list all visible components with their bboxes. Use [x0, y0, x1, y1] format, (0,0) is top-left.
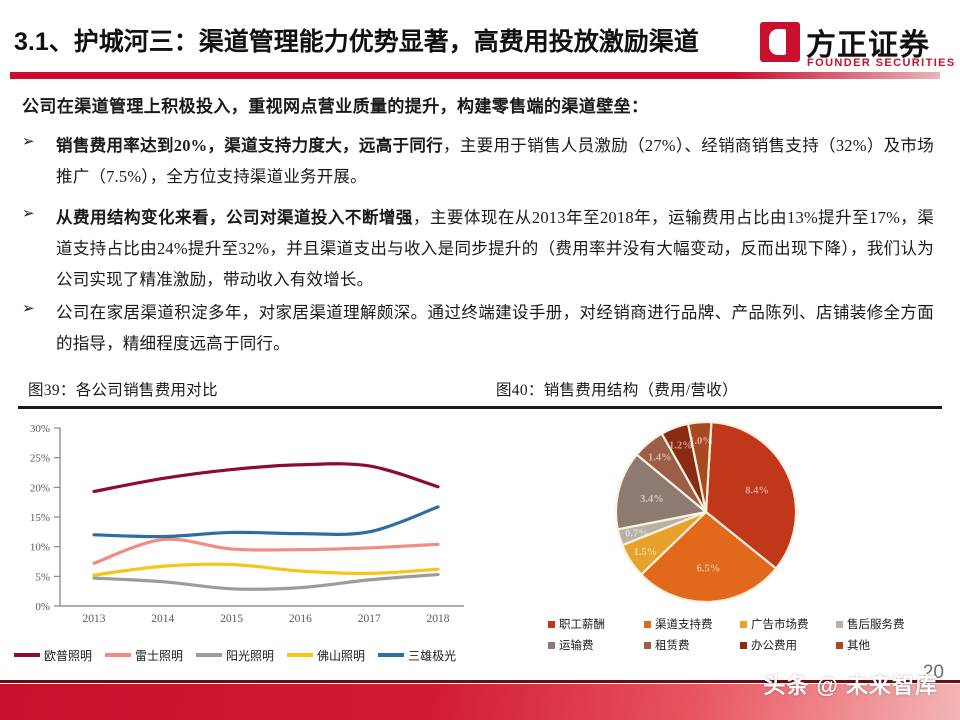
x-axis-ticks: 201320142015201620172018	[83, 613, 450, 625]
line-series	[94, 564, 438, 575]
bullet-bold-text: 从费用结构变化来看，公司对渠道投入不断增强	[56, 208, 413, 227]
bullet-text: 从费用结构变化来看，公司对渠道投入不断增强，主要体现在从2013年至2018年，…	[56, 202, 934, 295]
legend-item[interactable]: 职工薪酬	[548, 616, 644, 632]
y-tick-label: 15%	[30, 512, 50, 524]
legend-item[interactable]: 阳光照明	[196, 647, 274, 664]
line-series	[94, 575, 438, 590]
charts-area: 0%5%10%15%20%25%30% 20132014201520162017…	[0, 414, 960, 674]
bullet-rest-text: 公司在家居渠道积淀多年，对家居渠道理解颇深。通过终端建设手册，对经销商进行品牌、…	[56, 303, 934, 353]
pie-slices-group	[616, 422, 796, 602]
caption-divider	[18, 406, 942, 409]
legend-label: 雷士照明	[135, 647, 183, 664]
legend-label: 阳光照明	[226, 647, 274, 664]
brand-logo: 方正证券 FOUNDER SECURITIES	[760, 20, 950, 76]
bullet-item: ➢ 从费用结构变化来看，公司对渠道投入不断增强，主要体现在从2013年至2018…	[22, 202, 934, 295]
bullet-bold-text: 销售费用率达到20%，渠道支持力度大，远高于同行	[56, 136, 443, 155]
legend-swatch-icon	[378, 653, 404, 657]
legend-item[interactable]: 欧普照明	[14, 647, 92, 664]
bullet-text: 公司在家居渠道积淀多年，对家居渠道理解颇深。通过终端建设手册，对经销商进行品牌、…	[56, 297, 934, 359]
legend-swatch-icon	[740, 621, 747, 628]
x-tick-label: 2018	[427, 613, 450, 625]
legend-item[interactable]: 办公费用	[740, 637, 836, 653]
legend-label: 佛山照明	[317, 647, 365, 664]
legend-label: 售后服务费	[847, 616, 905, 632]
line-series	[94, 464, 438, 492]
footer-bar: 资料来源：Wind，方正证券研究所	[0, 684, 960, 720]
y-tick-label: 0%	[35, 601, 50, 613]
legend-label: 租赁费	[655, 637, 690, 653]
legend-item[interactable]: 其他	[836, 637, 932, 653]
legend-label: 三雄极光	[408, 647, 456, 664]
bullet-marker-icon: ➢	[22, 204, 35, 223]
y-tick-label: 5%	[35, 571, 50, 583]
legend-swatch-icon	[548, 621, 555, 628]
y-tick-label: 10%	[30, 542, 50, 554]
line-series	[94, 539, 438, 563]
legend-swatch-icon	[548, 642, 555, 649]
legend-swatch-icon	[740, 642, 747, 649]
pie-slice-label: 3.4%	[640, 494, 664, 505]
y-tick-label: 30%	[30, 423, 50, 435]
legend-swatch-icon	[644, 642, 651, 649]
bullet-marker-icon: ➢	[22, 299, 35, 318]
line-series	[94, 507, 438, 537]
pie-chart-legend: 职工薪酬渠道支持费广告市场费售后服务费运输费租赁费办公费用其他	[548, 616, 948, 653]
line-chart: 0%5%10%15%20%25%30% 20132014201520162017…	[12, 418, 482, 640]
legend-swatch-icon	[196, 653, 222, 657]
page-title: 3.1、护城河三：渠道管理能力优势显著，高费用投放激励渠道	[14, 22, 699, 58]
x-tick-label: 2014	[151, 613, 174, 625]
bullet-item: ➢ 销售费用率达到20%，渠道支持力度大，远高于同行，主要用于销售人员激励（27…	[22, 130, 934, 192]
legend-item[interactable]: 雷士照明	[105, 647, 183, 664]
brand-name-en: FOUNDER SECURITIES	[807, 57, 956, 69]
pie-chart: 8.4%6.5%1.5%0.7%3.4%1.4%1.2%1.0%	[556, 414, 948, 614]
legend-label: 广告市场费	[751, 616, 809, 632]
x-tick-label: 2015	[220, 613, 243, 625]
line-chart-legend: 欧普照明雷士照明阳光照明佛山照明三雄极光	[14, 644, 490, 666]
bullet-marker-icon: ➢	[22, 132, 35, 151]
legend-label: 运输费	[559, 637, 594, 653]
pie-slice-label: 1.0%	[689, 436, 713, 447]
founder-logo-icon	[760, 22, 800, 62]
legend-item[interactable]: 运输费	[548, 637, 644, 653]
legend-swatch-icon	[287, 653, 313, 657]
y-tick-label: 20%	[30, 482, 50, 494]
slide-root: 3.1、护城河三：渠道管理能力优势显著，高费用投放激励渠道 方正证券 FOUND…	[0, 0, 960, 720]
legend-item[interactable]: 三雄极光	[378, 647, 456, 664]
figure-caption-left: 图39：各公司销售费用对比	[28, 378, 218, 400]
legend-item[interactable]: 渠道支持费	[644, 616, 740, 632]
slide-header: 3.1、护城河三：渠道管理能力优势显著，高费用投放激励渠道 方正证券 FOUND…	[0, 0, 960, 86]
legend-label: 职工薪酬	[559, 616, 605, 632]
legend-swatch-icon	[836, 621, 843, 628]
pie-slice-label: 8.4%	[745, 485, 769, 496]
pie-slice-label: 0.7%	[625, 528, 649, 539]
pie-slice-label: 6.5%	[697, 564, 721, 575]
bullet-item: ➢ 公司在家居渠道积淀多年，对家居渠道理解颇深。通过终端建设手册，对经销商进行品…	[22, 297, 934, 359]
legend-item[interactable]: 广告市场费	[740, 616, 836, 632]
legend-item[interactable]: 售后服务费	[836, 616, 932, 632]
legend-swatch-icon	[14, 653, 40, 657]
figure-caption-right: 图40：销售费用结构（费用/营收）	[496, 378, 738, 400]
legend-swatch-icon	[836, 642, 843, 649]
x-tick-label: 2017	[358, 613, 381, 625]
bullet-text: 销售费用率达到20%，渠道支持力度大，远高于同行，主要用于销售人员激励（27%）…	[56, 130, 934, 192]
pie-slice-label: 1.5%	[634, 547, 658, 558]
pie-slice-label: 1.4%	[648, 453, 672, 464]
legend-label: 欧普照明	[44, 647, 92, 664]
footer-divider	[0, 680, 960, 683]
legend-swatch-icon	[105, 653, 131, 657]
y-tick-label: 25%	[30, 453, 50, 465]
legend-item[interactable]: 租赁费	[644, 637, 740, 653]
x-tick-label: 2013	[83, 613, 106, 625]
y-axis-ticks: 0%5%10%15%20%25%30%	[30, 423, 60, 613]
line-series-group	[94, 464, 438, 589]
legend-item[interactable]: 佛山照明	[287, 647, 365, 664]
lead-paragraph: 公司在渠道管理上积极投入，重视网点营业质量的提升，构建零售端的渠道壁垒：	[22, 92, 648, 117]
x-tick-label: 2016	[289, 613, 312, 625]
legend-label: 渠道支持费	[655, 616, 713, 632]
legend-label: 其他	[847, 637, 870, 653]
legend-label: 办公费用	[751, 637, 797, 653]
legend-swatch-icon	[644, 621, 651, 628]
